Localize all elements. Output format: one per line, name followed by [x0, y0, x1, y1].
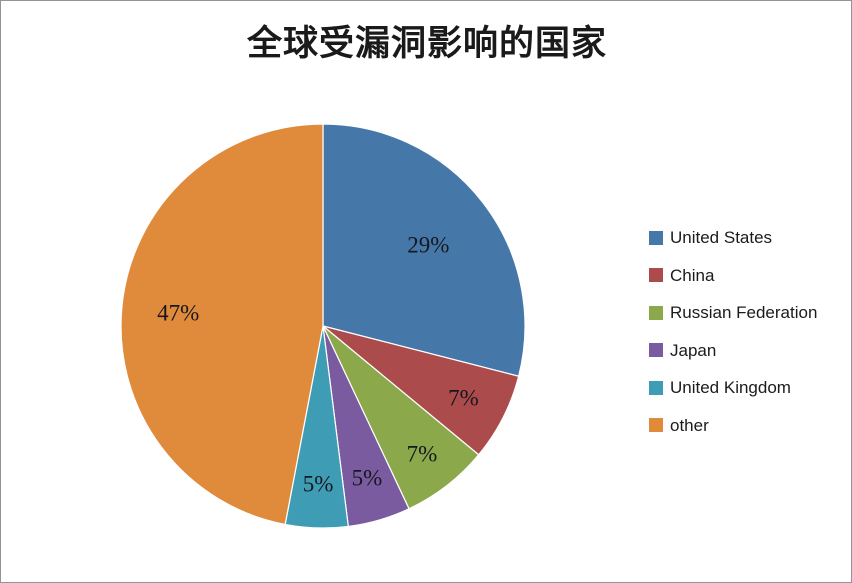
legend-item[interactable]: United States: [649, 219, 849, 257]
pie-plot-area: 29%7%7%5%5%47%: [111, 114, 535, 538]
legend-item-label: United States: [670, 229, 772, 246]
chart-title: 全球受漏洞影响的国家: [1, 15, 852, 66]
pie-slice-data-label: 5%: [303, 472, 334, 497]
chart-legend: United StatesChinaRussian FederationJapa…: [649, 219, 849, 444]
legend-color-swatch: [649, 268, 663, 282]
legend-item[interactable]: Japan: [649, 332, 849, 370]
legend-color-swatch: [649, 381, 663, 395]
legend-color-swatch: [649, 306, 663, 320]
pie-slice-data-label: 5%: [352, 465, 383, 490]
legend-item-label: China: [670, 267, 714, 284]
pie-slices-group: [121, 124, 525, 528]
legend-color-swatch: [649, 343, 663, 357]
legend-item[interactable]: China: [649, 257, 849, 295]
pie-slice-data-label: 7%: [448, 386, 479, 411]
pie-slice[interactable]: [121, 124, 323, 524]
legend-color-swatch: [649, 418, 663, 432]
pie-slice-data-label: 29%: [407, 232, 449, 257]
legend-item-label: Russian Federation: [670, 304, 817, 321]
pie-chart-container: 全球受漏洞影响的国家 29%7%7%5%5%47% United StatesC…: [0, 0, 852, 583]
legend-item-label: Japan: [670, 342, 716, 359]
legend-item[interactable]: other: [649, 407, 849, 445]
legend-item-label: United Kingdom: [670, 379, 791, 396]
legend-item[interactable]: Russian Federation: [649, 294, 849, 332]
legend-color-swatch: [649, 231, 663, 245]
pie-slice-data-label: 7%: [407, 442, 438, 467]
legend-item[interactable]: United Kingdom: [649, 369, 849, 407]
legend-item-label: other: [670, 417, 709, 434]
pie-slice-data-label: 47%: [157, 300, 199, 325]
pie-svg: 29%7%7%5%5%47%: [111, 114, 535, 538]
